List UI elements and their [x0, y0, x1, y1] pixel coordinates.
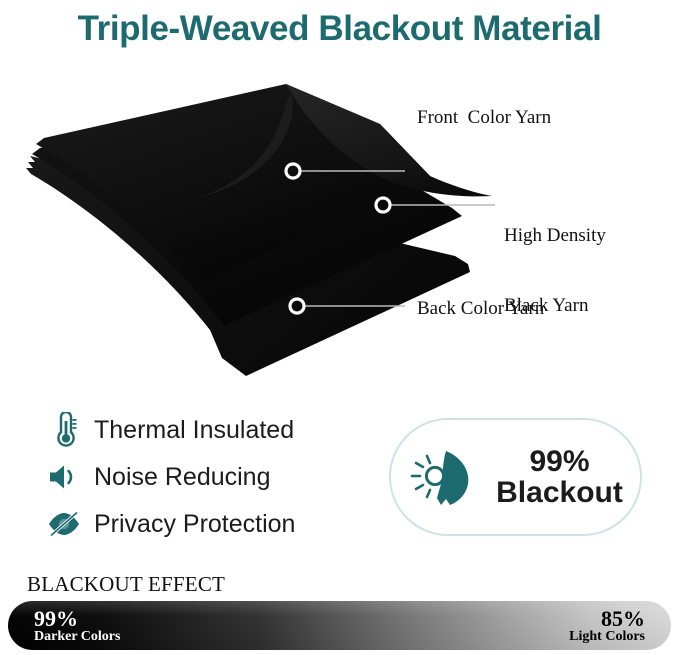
callout-line-1: High Density [504, 224, 606, 247]
sun-behind-curtain-icon [408, 441, 486, 513]
feature-item-privacy-protection: Privacy Protection [42, 502, 372, 546]
feature-label-privacy-protection: Privacy Protection [94, 510, 295, 539]
blackout-effect-gradient-bar: 99% Darker Colors 85% Light Colors [8, 601, 671, 650]
page-title: Triple-Weaved Blackout Material [0, 0, 679, 58]
thermometer-icon [42, 410, 86, 450]
callout-label-back-color-yarn: Back Color Yarn [417, 297, 544, 320]
blackout-badge-percent: 99% [496, 446, 623, 477]
eye-slash-icon [42, 504, 86, 544]
feature-label-noise-reducing: Noise Reducing [94, 463, 271, 492]
bar-left-percent: 99% [34, 607, 120, 630]
callout-label-front-color-yarn: Front Color Yarn [417, 106, 551, 129]
bar-right-percent: 85% [569, 607, 645, 630]
bar-left-label: Darker Colors [34, 630, 120, 645]
blackout-badge-text: 99% Blackout [496, 446, 623, 508]
feature-item-thermal-insulated: Thermal Insulated [42, 408, 372, 452]
bar-right-label: Light Colors [569, 630, 645, 645]
blackout-badge: 99% Blackout [389, 418, 642, 536]
feature-item-noise-reducing: Noise Reducing [42, 455, 372, 499]
bar-left-stat: 99% Darker Colors [34, 607, 120, 645]
bar-right-stat: 85% Light Colors [569, 607, 645, 645]
feature-list: Thermal Insulated Noise Reducing Privacy… [42, 408, 372, 549]
speaker-icon [42, 457, 86, 497]
feature-label-thermal-insulated: Thermal Insulated [94, 416, 294, 445]
blackout-effect-heading: BLACKOUT EFFECT [27, 572, 225, 597]
blackout-badge-word: Blackout [496, 477, 623, 508]
